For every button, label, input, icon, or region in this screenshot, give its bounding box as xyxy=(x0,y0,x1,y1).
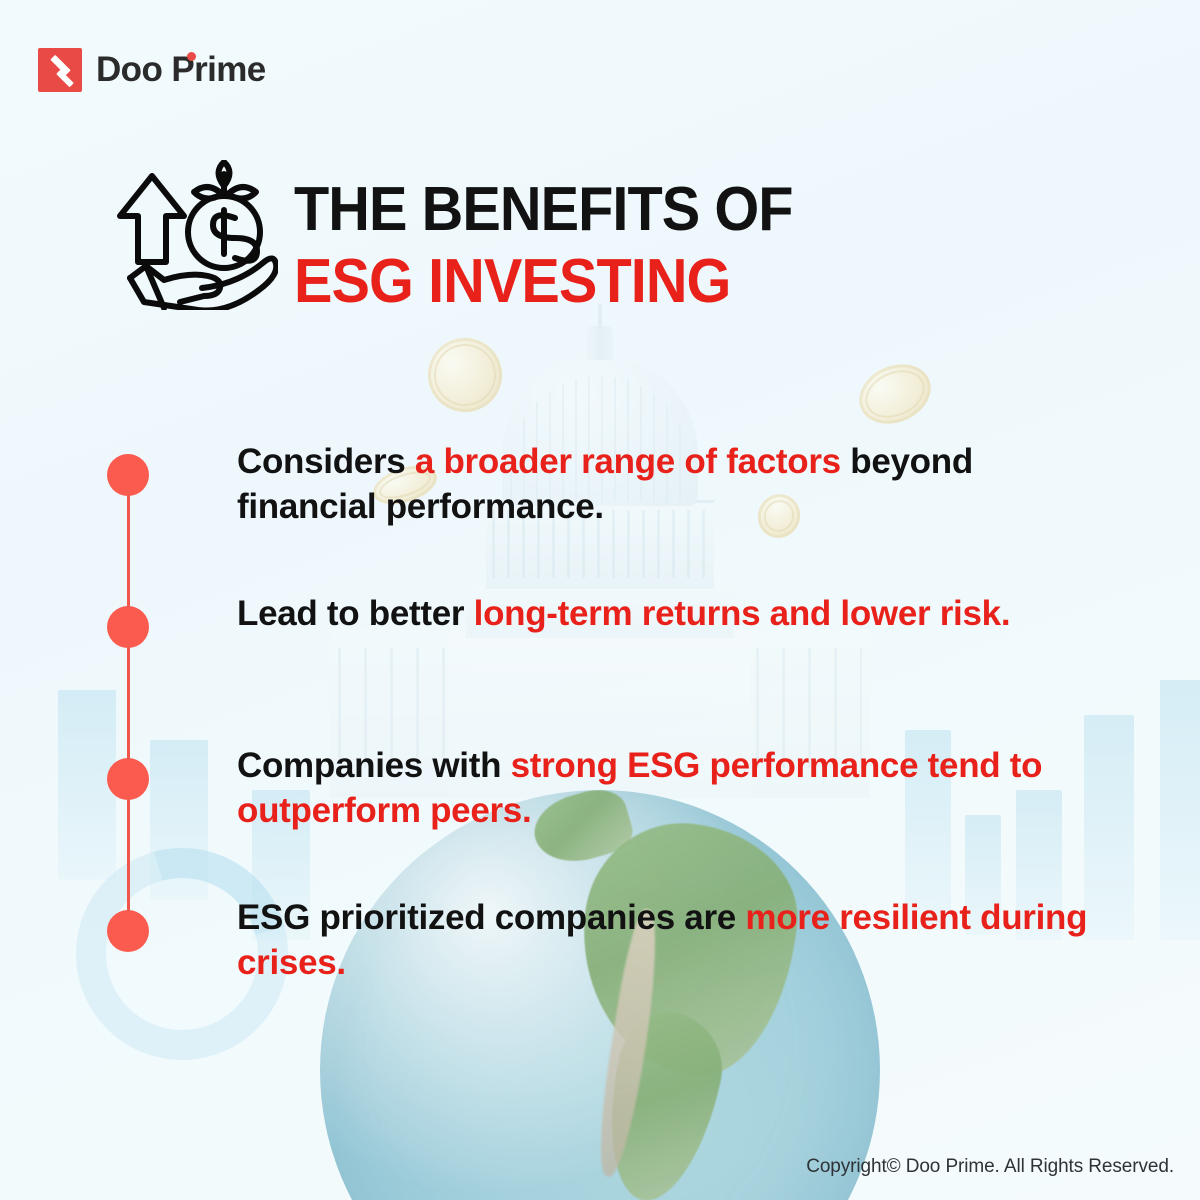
brand-name-text: Doo Prime xyxy=(96,50,266,89)
title-block: THE BENEFITS OF ESG INVESTING xyxy=(294,160,830,318)
gold-coin-icon xyxy=(421,331,509,419)
benefit-text-plain: Lead to better xyxy=(237,594,474,633)
bullet-dot-icon xyxy=(107,606,149,648)
hand-holding-money-bag-growth-icon xyxy=(108,160,278,310)
benefit-text-plain: Considers xyxy=(237,442,415,481)
benefit-text-plain: ESG prioritized companies are xyxy=(237,898,745,937)
brand-accent-dot-icon xyxy=(187,52,196,61)
benefit-text-highlight: a broader range of factors xyxy=(415,442,841,481)
benefits-list: Considers a broader range of factors bey… xyxy=(0,440,1200,1048)
copyright-notice: Copyright© Doo Prime. All Rights Reserve… xyxy=(806,1156,1174,1178)
page-title-line-1: THE BENEFITS OF xyxy=(294,174,793,246)
brand-logo[interactable]: Doo Prime xyxy=(38,48,266,92)
list-item: Companies with strong ESG performance te… xyxy=(0,744,1200,896)
bullet-dot-icon xyxy=(107,454,149,496)
list-item: ESG prioritized companies are more resil… xyxy=(0,896,1200,1048)
benefit-text: Considers a broader range of factors bey… xyxy=(237,440,1100,530)
page-title-line-2: ESG INVESTING xyxy=(294,246,793,318)
benefit-text: Companies with strong ESG performance te… xyxy=(237,744,1100,834)
doo-prime-mark-icon xyxy=(38,48,82,92)
benefit-text: ESG prioritized companies are more resil… xyxy=(237,896,1100,986)
list-item: Considers a broader range of factors bey… xyxy=(0,440,1200,592)
benefit-text-highlight: long-term returns and lower risk. xyxy=(474,594,1011,633)
benefit-text-plain: Companies with xyxy=(237,746,511,785)
gold-coin-icon xyxy=(850,353,940,434)
benefit-text: Lead to better long-term returns and low… xyxy=(237,592,1100,637)
list-item: Lead to better long-term returns and low… xyxy=(0,592,1200,744)
header: THE BENEFITS OF ESG INVESTING xyxy=(0,160,1200,318)
bullet-dot-icon xyxy=(107,758,149,800)
bullet-dot-icon xyxy=(107,910,149,952)
esg-investing-infographic: Doo Prime xyxy=(0,0,1200,1200)
brand-name: Doo Prime xyxy=(96,50,266,90)
